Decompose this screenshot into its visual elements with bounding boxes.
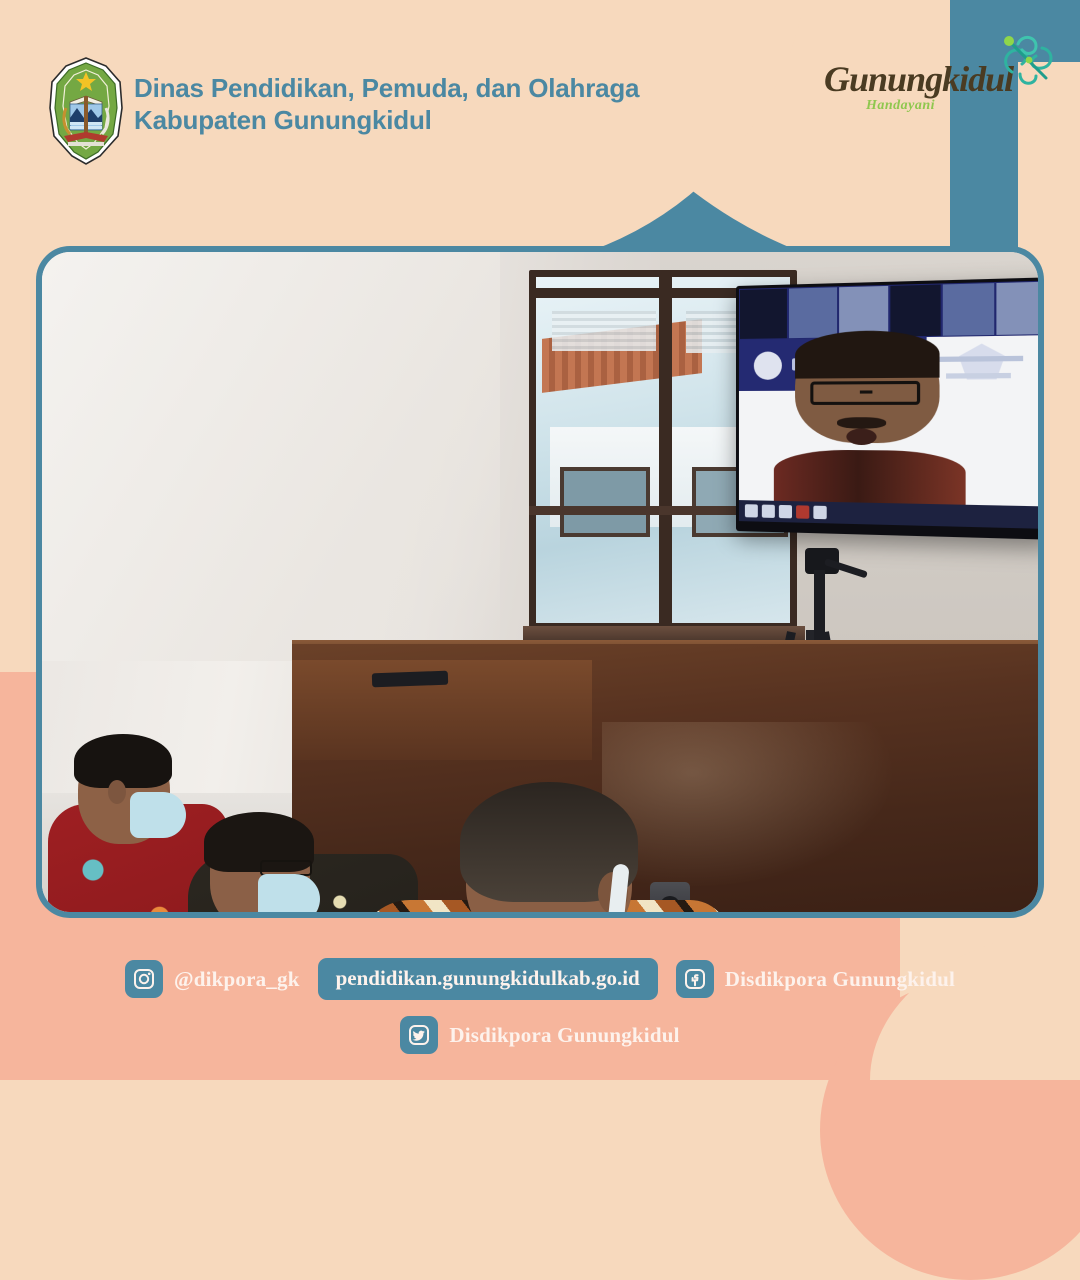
participant-tile [839, 286, 888, 337]
smartphone [372, 671, 448, 688]
twitter-handle-label: Disdikpora Gunungkidul [449, 1023, 679, 1048]
participant-tile [890, 285, 940, 337]
facebook-handle-item[interactable]: Disdikpora Gunungkidul [676, 960, 955, 998]
meeting-photo [42, 252, 1038, 912]
instagram-handle-item[interactable]: @dikpora_gk [125, 960, 300, 998]
toolbar-button [779, 505, 792, 518]
page-header: Dinas Pendidikan, Pemuda, dan Olahraga K… [0, 0, 1080, 220]
page-title-line-1: Dinas Pendidikan, Pemuda, dan Olahraga [134, 72, 639, 104]
participant-tile [740, 289, 787, 339]
remote-speaker-batik-shirt [774, 449, 965, 504]
slide-text-line [946, 373, 1011, 379]
footer-row-secondary: Disdikpora Gunungkidul [0, 1016, 1080, 1054]
facebook-handle-label: Disdikpora Gunungkidul [725, 967, 955, 992]
slide-logo-circle [754, 351, 782, 379]
toolbar-button [745, 504, 758, 517]
page-title: Dinas Pendidikan, Pemuda, dan Olahraga K… [134, 72, 639, 136]
brand-wordmark: Gunungkidul [824, 58, 1024, 100]
dragonfly-motif-icon [996, 30, 1058, 92]
twitter-handle-item[interactable]: Disdikpora Gunungkidul [400, 1016, 679, 1054]
remote-speaker-hair [795, 330, 940, 379]
camera-tripod-column [814, 570, 825, 640]
room-wall-highlight [42, 252, 500, 661]
twitter-icon[interactable] [400, 1016, 438, 1054]
participant-tile [996, 282, 1038, 335]
website-url-badge[interactable]: pendidikan.gunungkidulkab.go.id [318, 958, 658, 1000]
brand-tagline: Handayani [866, 98, 935, 114]
attendee-2-face-mask [258, 874, 320, 912]
instagram-handle-label: @dikpora_gk [174, 967, 300, 992]
meeting-photo-frame [36, 246, 1044, 918]
footer-row-primary: @dikpora_gk pendidikan.gunungkidulkab.go… [0, 958, 1080, 1000]
instagram-icon[interactable] [125, 960, 163, 998]
toolbar-button [762, 505, 775, 518]
toolbar-button [813, 506, 826, 520]
window-mullion-center [659, 270, 672, 630]
window-blind-left [552, 311, 656, 351]
video-conference-screen [739, 281, 1038, 529]
table-light-reflection [602, 722, 902, 892]
social-media-footer: @dikpora_gk pendidikan.gunungkidulkab.go… [0, 930, 1080, 1080]
toolbar-end-call-button [796, 505, 809, 519]
wall-mounted-tv [736, 277, 1038, 540]
attendee-1-hair [74, 734, 172, 788]
attendee-1-face-mask [130, 792, 186, 838]
attendee-1-ear [108, 780, 126, 804]
remote-speaker-glasses [810, 381, 921, 405]
gunungkidul-brand-logo: Gunungkidul Handayani [824, 44, 1054, 134]
exterior-window-left [560, 467, 650, 537]
facebook-icon[interactable] [676, 960, 714, 998]
participant-tile [943, 283, 994, 336]
slide-text-line [940, 355, 1024, 361]
remote-speaker-mustache [837, 417, 886, 429]
participant-tile [789, 287, 837, 338]
video-call-toolbar [739, 500, 1038, 529]
gunungkidul-regency-emblem-icon [44, 56, 128, 166]
page-title-line-2: Kabupaten Gunungkidul [134, 104, 639, 136]
